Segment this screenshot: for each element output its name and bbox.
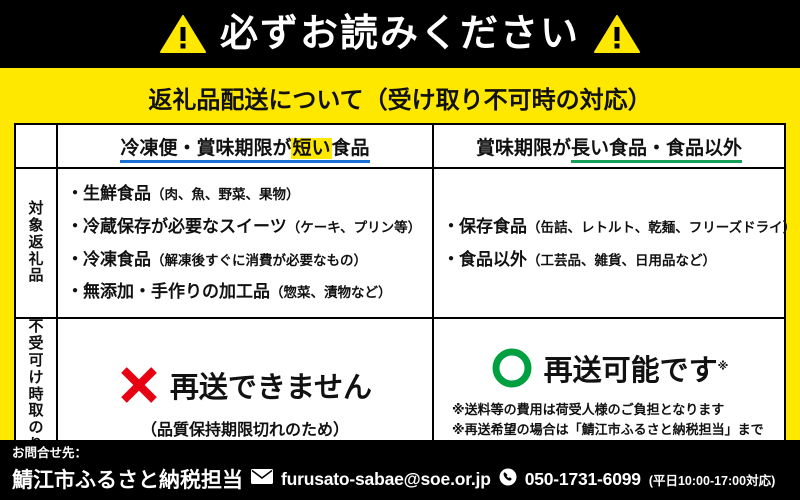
table-row: 対 象 返 礼 品 生鮮食品（肉、魚、野菜、果物） 冷蔵保存が必要なスイーツ（ケ… bbox=[15, 168, 785, 318]
target-items-long-cell: 保存食品（缶詰、レトルト、乾麺、フリーズドライ） 食品以外（工芸品、雑貨、日用品… bbox=[433, 168, 785, 318]
header-corner-blank bbox=[15, 124, 57, 168]
list-item: 冷蔵保存が必要なスイーツ（ケーキ、プリン等） bbox=[72, 214, 422, 240]
footer-contact-bar: お問合せ先： 鯖江市ふるさと納税担当 furusato-sabae@soe.or… bbox=[0, 440, 800, 500]
list-item-note: （惣菜、漬物など） bbox=[270, 285, 392, 300]
list-item-note: （缶詰、レトルト、乾麺、フリーズドライ） bbox=[527, 220, 796, 235]
column-header-short-shelf-life: 冷凍便・賞味期限が短い食品 bbox=[57, 124, 433, 168]
contact-label: お問合せ先： bbox=[12, 446, 788, 461]
contact-email[interactable]: furusato-sabae@soe.or.jp bbox=[281, 469, 491, 490]
header-title: 必ずお読みください bbox=[220, 15, 580, 53]
row-label-char: 象 bbox=[16, 218, 56, 235]
column-header-long-shelf-life: 賞味期限が長い食品・食品以外 bbox=[433, 124, 785, 168]
warning-triangle-icon bbox=[594, 14, 640, 54]
row-label-char: 受 bbox=[16, 336, 56, 353]
contact-hours: (平日10:00-17:00対応) bbox=[649, 470, 775, 489]
list-item-main: 無添加・手作りの加工品 bbox=[83, 282, 270, 301]
row-label-char: の bbox=[16, 420, 56, 437]
result-headline-text: 再送可能です bbox=[544, 355, 718, 387]
list-item: 無添加・手作りの加工品（惣菜、漬物など） bbox=[72, 279, 422, 305]
col-b-header-part1: 賞味期限が bbox=[476, 138, 571, 159]
list-item-note: （ケーキ、プリン等） bbox=[287, 220, 421, 235]
list-item: 冷凍食品（解凍後すぐに消費が必要なもの） bbox=[72, 247, 422, 273]
contact-details: 鯖江市ふるさと納税担当 furusato-sabae@soe.or.jp 050… bbox=[12, 464, 788, 494]
phone-icon bbox=[499, 468, 517, 491]
row-label-char: 対 bbox=[16, 201, 56, 218]
list-item-note: （解凍後すぐに消費が必要なもの） bbox=[151, 253, 367, 268]
warning-triangle-icon bbox=[160, 14, 206, 54]
list-item-main: 保存食品 bbox=[459, 217, 527, 236]
result-sub-no-resend: （品質保持期限切れのため） bbox=[66, 416, 424, 440]
list-item: 食品以外（工芸品、雑貨、日用品など） bbox=[448, 247, 774, 273]
row-label-char: 可 bbox=[16, 353, 56, 370]
row-label-char: 品 bbox=[16, 268, 56, 285]
row-label-target-items: 対 象 返 礼 品 bbox=[15, 168, 57, 318]
row-label-char: 時 bbox=[16, 387, 56, 404]
flyer-page: 必ずお読みください 返礼品配送について（受け取り不可時の対応） 冷凍便・賞味期 bbox=[0, 0, 800, 500]
col-a-header-part1: 冷凍便・賞味期限が bbox=[120, 138, 291, 159]
row-label-char: 返 bbox=[16, 235, 56, 252]
result-note-line: ※再送希望の場合は「鯖江市ふるさと納税担当」まで bbox=[452, 420, 776, 440]
result-headline-no-resend: 再送できません bbox=[170, 364, 372, 406]
delivery-policy-table: 冷凍便・賞味期限が短い食品 賞味期限が長い食品・食品以外 対 象 返 礼 品 bbox=[14, 123, 786, 489]
list-item-main: 生鮮食品 bbox=[83, 184, 151, 203]
list-item-main: 冷蔵保存が必要なスイーツ bbox=[83, 217, 287, 236]
list-item-note: （肉、魚、野菜、果物） bbox=[151, 187, 300, 202]
cross-mark-icon bbox=[118, 364, 160, 406]
list-item-main: 冷凍食品 bbox=[83, 250, 151, 269]
table-header-row: 冷凍便・賞味期限が短い食品 賞味期限が長い食品・食品以外 bbox=[15, 124, 785, 168]
envelope-icon bbox=[251, 469, 273, 489]
list-item: 生鮮食品（肉、魚、野菜、果物） bbox=[72, 181, 422, 207]
body-yellow-area: 返礼品配送について（受け取り不可時の対応） 冷凍便・賞味期限が短い食品 賞味期限… bbox=[0, 68, 800, 440]
col-a-header-highlight: 短い bbox=[291, 138, 331, 159]
col-a-header-part2: 食品 bbox=[332, 138, 370, 159]
col-b-header-part2: 長い食品・食品以外 bbox=[571, 138, 742, 163]
result-headline-resend-ok: 再送可能です※ bbox=[544, 347, 729, 389]
list-item: 保存食品（缶詰、レトルト、乾麺、フリーズドライ） bbox=[448, 214, 774, 240]
section-subtitle: 返礼品配送について（受け取り不可時の対応） bbox=[14, 76, 786, 123]
row-label-char: 不 bbox=[16, 319, 56, 336]
contact-phone[interactable]: 050-1731-6099 bbox=[525, 469, 641, 490]
list-item-note: （工芸品、雑貨、日用品など） bbox=[527, 253, 716, 268]
row-label-char: け bbox=[16, 370, 56, 387]
result-note-line: ※送料等の費用は荷受人様のご負担となります bbox=[452, 400, 776, 420]
contact-department: 鯖江市ふるさと納税担当 bbox=[12, 464, 243, 494]
row-label-char: 礼 bbox=[16, 252, 56, 269]
list-item-main: 食品以外 bbox=[459, 250, 527, 269]
target-items-short-cell: 生鮮食品（肉、魚、野菜、果物） 冷蔵保存が必要なスイーツ（ケーキ、プリン等） 冷… bbox=[57, 168, 433, 318]
circle-mark-icon bbox=[490, 346, 534, 390]
row-label-char: 取 bbox=[16, 403, 56, 420]
header-banner: 必ずお読みください bbox=[0, 0, 800, 68]
result-headline-sup: ※ bbox=[718, 360, 729, 372]
